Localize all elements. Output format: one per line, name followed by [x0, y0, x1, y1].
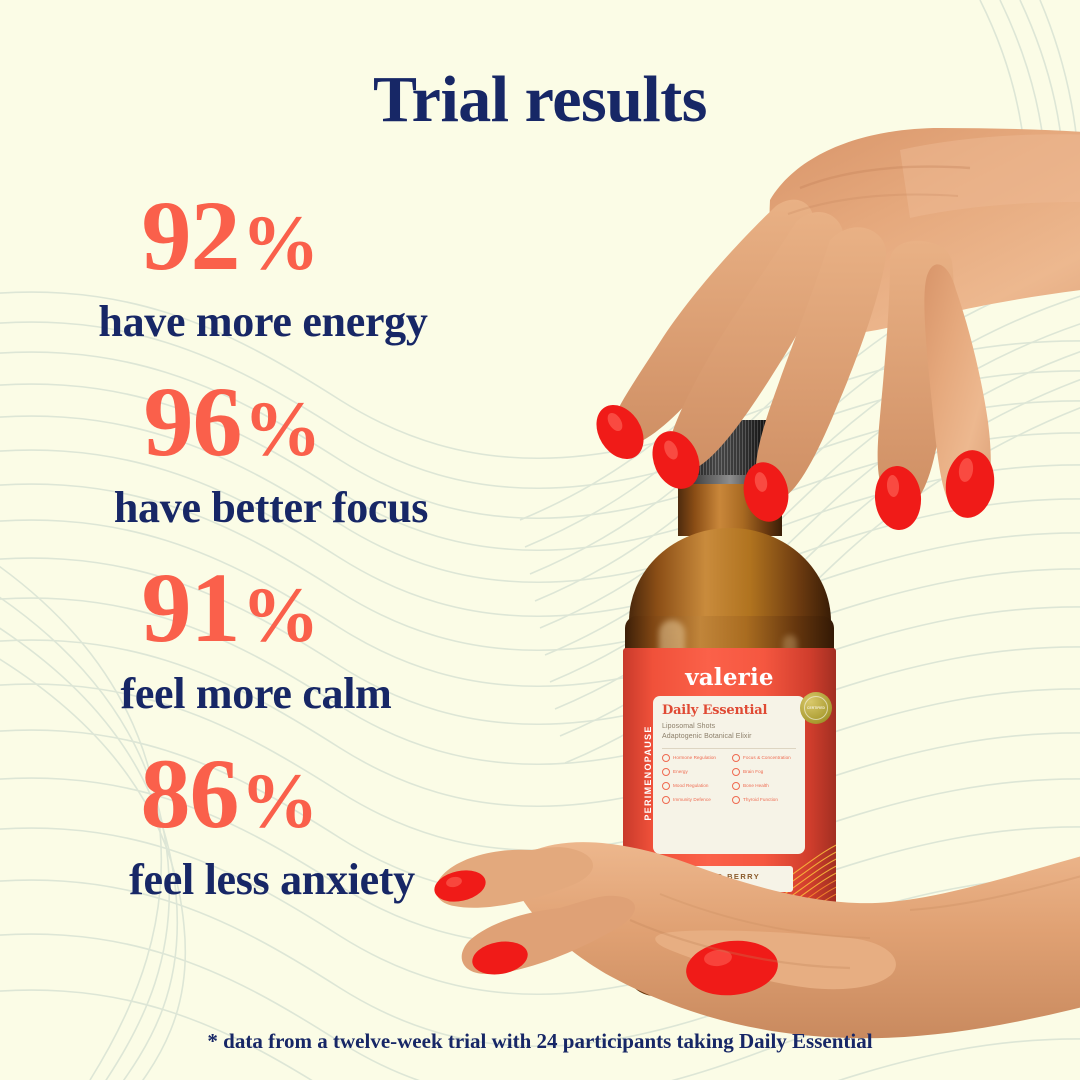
benefit-label: Hormone Regulation [673, 755, 716, 761]
benefit-item: Energy [662, 768, 726, 776]
bone-health-icon [732, 782, 740, 790]
stat-value: 96% [0, 372, 560, 472]
stat-label: feel more calm [0, 672, 560, 716]
brain-fog-icon [732, 768, 740, 776]
benefit-label: Mood Regulation [673, 783, 708, 789]
percent-sign: % [244, 385, 321, 472]
certification-badge: CERTIFIED [800, 692, 832, 724]
percent-sign: % [242, 199, 319, 286]
benefit-label: Focus & Concentration [743, 755, 791, 761]
stat-value: 92% [0, 186, 560, 286]
stat-number: 91 [142, 552, 240, 663]
hand-reaching-icon [470, 110, 1080, 550]
hormone-icon [662, 754, 670, 762]
percent-sign: % [242, 571, 319, 658]
stat-item: 86% feel less anxiety [0, 744, 560, 930]
focus-icon [732, 754, 740, 762]
benefit-item: Focus & Concentration [732, 754, 796, 762]
stat-value: 86% [0, 744, 560, 844]
percent-sign: % [241, 757, 318, 844]
stats-list: 92% have more energy 96% have better foc… [0, 186, 560, 930]
page-title: Trial results [0, 62, 1080, 138]
stat-number: 92 [142, 180, 240, 291]
divider [662, 748, 796, 749]
benefit-item: Brain Fog [732, 768, 796, 776]
energy-icon [662, 768, 670, 776]
mood-icon [662, 782, 670, 790]
benefit-item: Mood Regulation [662, 782, 726, 790]
badge-label: CERTIFIED [804, 696, 828, 720]
footnote: * data from a twelve-week trial with 24 … [0, 1029, 1080, 1054]
poster-canvas: Trial results 92% have more energy 96% h… [0, 0, 1080, 1080]
stat-item: 92% have more energy [0, 186, 560, 372]
benefit-item: Hormone Regulation [662, 754, 726, 762]
product-name: Daily Essential [662, 704, 796, 718]
stat-value: 91% [0, 558, 560, 658]
product-subtitle: Liposomal Shots Adaptogenic Botanical El… [662, 722, 796, 742]
product-subtitle-line2: Adaptogenic Botanical Elixir [662, 732, 796, 742]
stat-number: 86 [141, 738, 239, 849]
benefit-label: Brain Fog [743, 769, 763, 775]
stat-label: have more energy [0, 300, 560, 344]
benefit-item: Bone Health [732, 782, 796, 790]
brand-wordmark: valerie [623, 664, 836, 691]
benefit-label: Bone Health [743, 783, 769, 789]
stat-item: 96% have better focus [0, 372, 560, 558]
stat-item: 91% feel more calm [0, 558, 560, 744]
stat-number: 96 [144, 366, 242, 477]
product-subtitle-line1: Liposomal Shots [662, 722, 796, 732]
stat-label: feel less anxiety [0, 858, 560, 902]
benefit-label: Energy [673, 769, 688, 775]
stat-label: have better focus [0, 486, 560, 530]
